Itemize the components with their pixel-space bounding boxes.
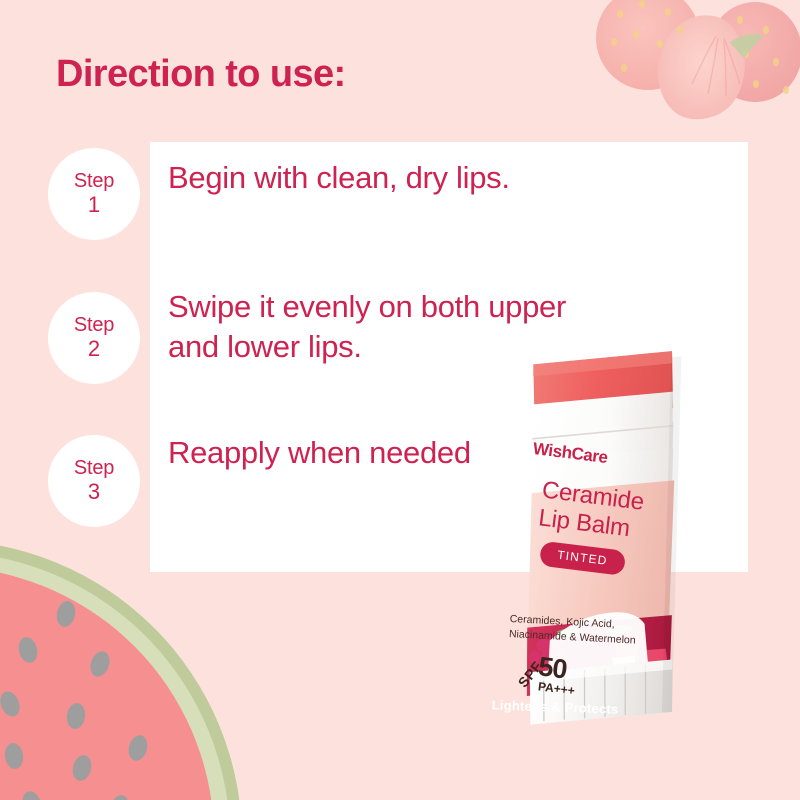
instruction-text-2: Swipe it evenly on both upper and lower …: [168, 287, 688, 368]
strawberries-icon: [580, 0, 800, 136]
step-label: Step: [74, 171, 114, 193]
watermelon-icon: [0, 540, 242, 800]
poster-canvas: Direction to use: Step 1 Step 2 Step 3 B…: [0, 0, 800, 800]
step-badge-2: Step 2: [48, 292, 140, 384]
spf-label: SPF: [515, 658, 546, 690]
spf-badge: SPF 50 PA+++: [508, 638, 587, 708]
step-label: Step: [74, 315, 114, 337]
step-number: 2: [88, 337, 100, 361]
step-badge-3: Step 3: [48, 435, 140, 527]
spf-value: 50: [537, 651, 569, 685]
step-badge-1: Step 1: [48, 148, 140, 240]
step-markers: Step 1 Step 2 Step 3: [42, 142, 150, 572]
step-label: Step: [74, 458, 114, 480]
spf-pa-rating: PA+++: [537, 679, 575, 697]
step-number: 1: [88, 193, 100, 217]
ingredients-text: Ceramides, Kojic Acid, Niacinamide & Wat…: [509, 612, 670, 651]
step-number: 3: [88, 480, 100, 504]
instruction-text-1: Begin with clean, dry lips.: [168, 158, 688, 198]
product-tagline: Lightens & Protects: [492, 697, 619, 716]
page-title: Direction to use:: [56, 54, 346, 96]
instruction-text-3: Reapply when needed: [168, 433, 598, 473]
